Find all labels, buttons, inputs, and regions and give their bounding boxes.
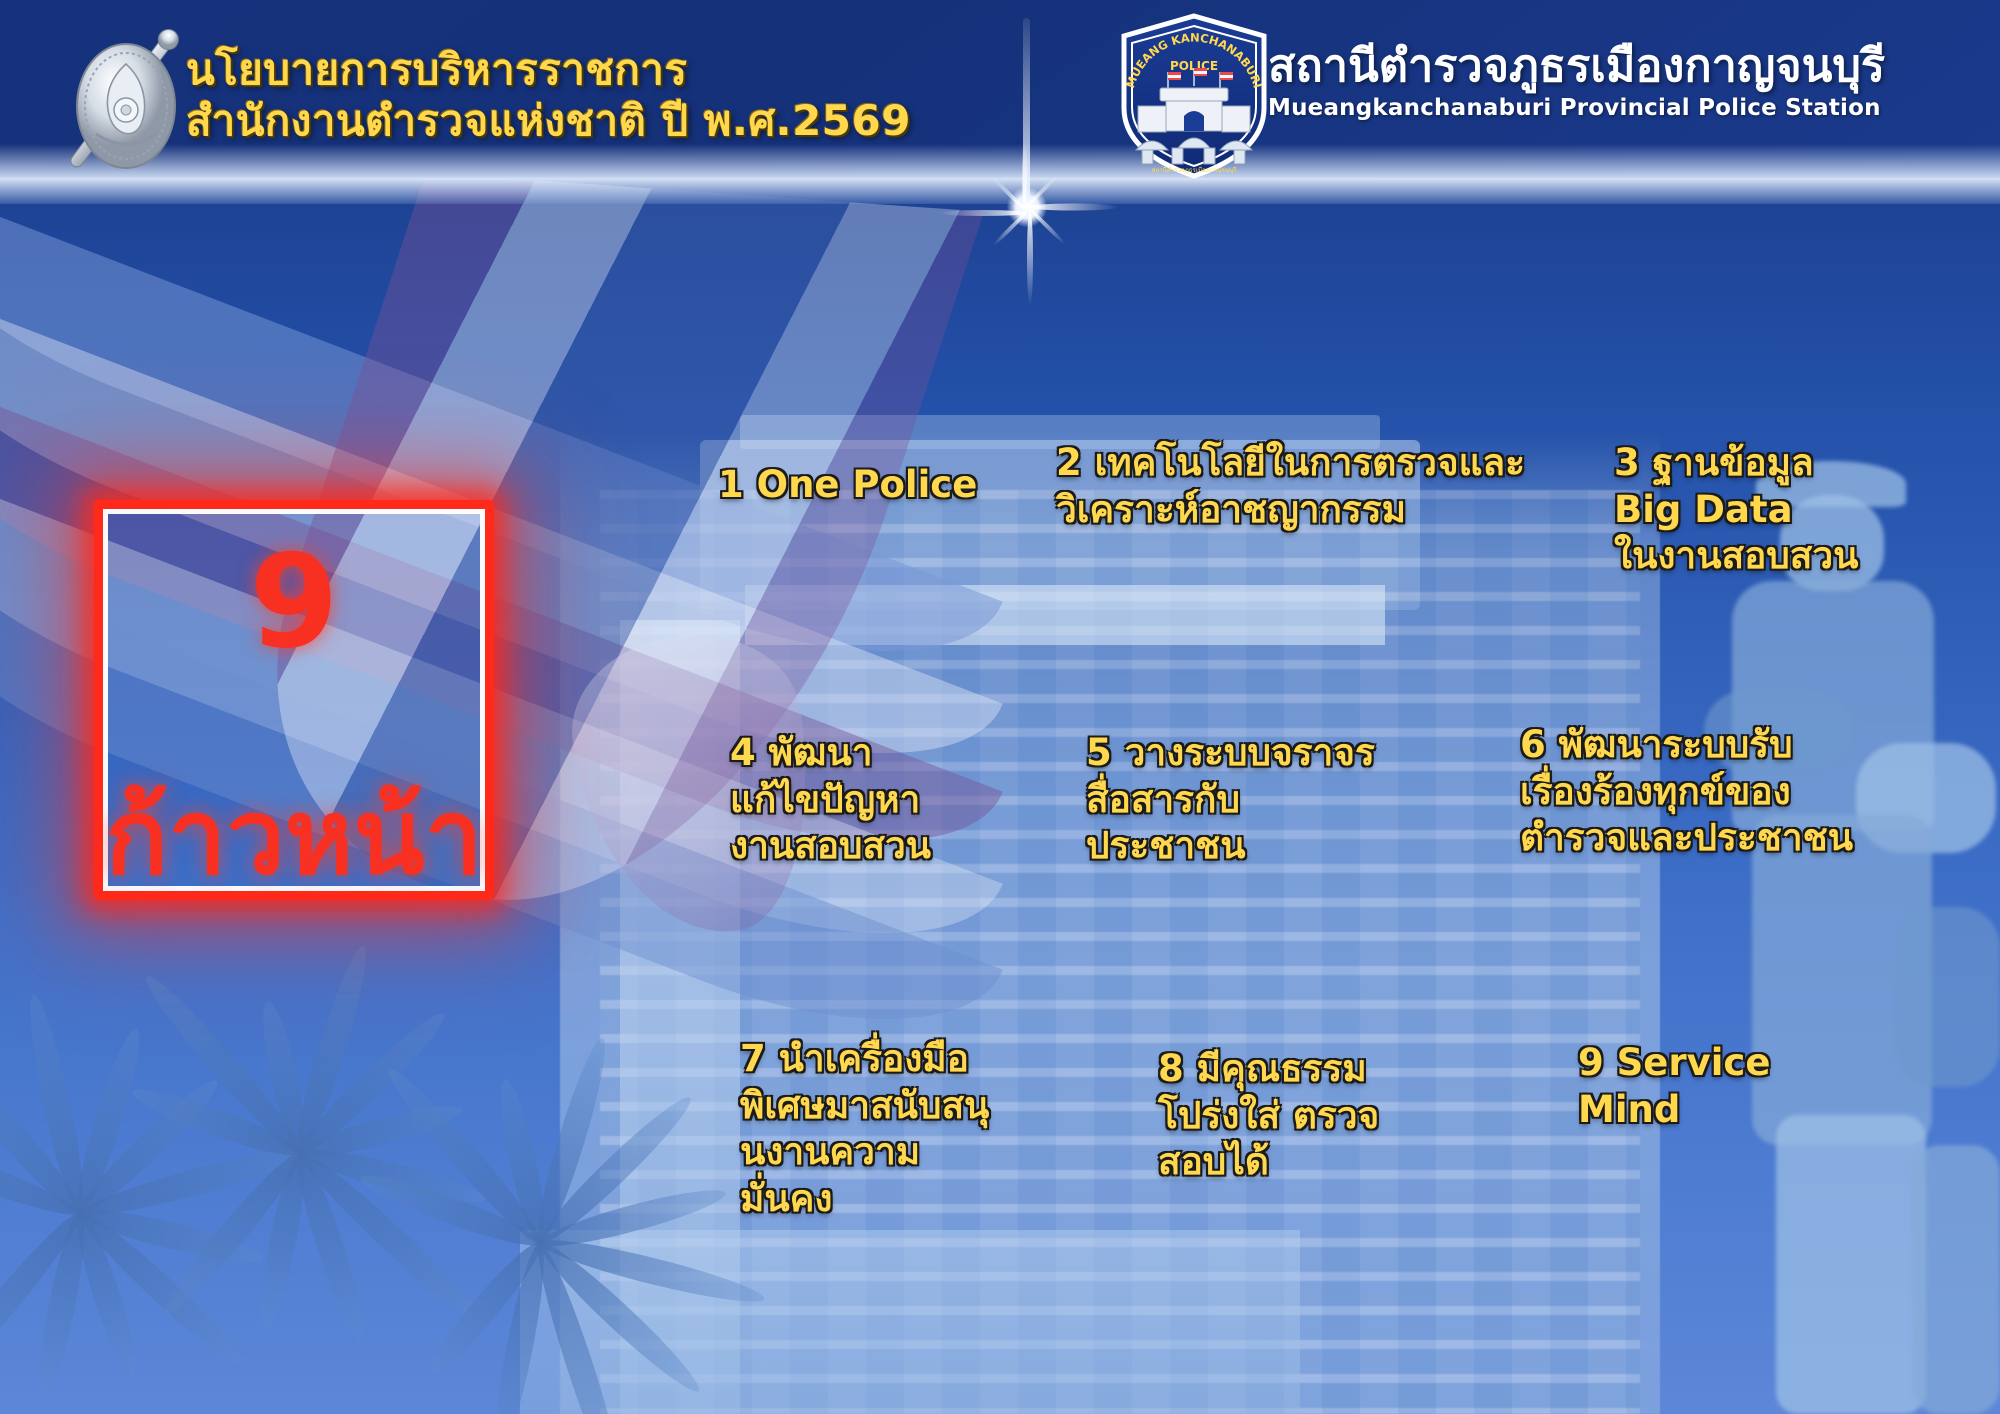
mueang-kanchanaburi-police-shield-badge-icon: MUEANG KANCHANABURI POLICE [1108, 12, 1280, 180]
station-name-english: Mueangkanchanaburi Provincial Police Sta… [1268, 95, 1885, 123]
policy-item-6-text: 6 พัฒนาระบบรับ เรื่องร้องทุกข์ของ ตำรวจแ… [1520, 722, 1853, 862]
policy-item-8: 8 มีคุณธรรม โปร่งใส่ ตรวจ สอบได้ [1158, 1046, 1379, 1186]
policy-item-2: 2 เทคโนโลยีในการตรวจและ วิเคราะห์อาชญากร… [1056, 440, 1525, 533]
page-title-line-1: นโยบายการบริหารราชการ [186, 44, 911, 95]
policy-item-7: 7 นำเครื่องมือ พิเศษมาสนับสนุ นงานความ ม… [740, 1036, 989, 1222]
station-name-block: สถานีตำรวจภูธรเมืองกาญจนบุรี Mueangkanch… [1268, 42, 1885, 123]
policy-item-4: 4 พัฒนา แก้ไขปัญหา งานสอบสวน [730, 730, 931, 870]
policy-item-7-text: 7 นำเครื่องมือ พิเศษมาสนับสนุ นงานความ ม… [740, 1036, 989, 1222]
header-title-block: นโยบายการบริหารราชการ สำนักงานตำรวจแห่งช… [186, 44, 911, 146]
policy-item-3: 3 ฐานข้อมูล Big Data ในงานสอบสวน [1614, 440, 1858, 580]
policy-item-4-text: 4 พัฒนา แก้ไขปัญหา งานสอบสวน [730, 730, 931, 870]
policy-item-1-text: 1 One Police [718, 462, 977, 509]
station-name-thai: สถานีตำรวจภูธรเมืองกาญจนบุรี [1268, 42, 1885, 89]
policy-item-9: 9 Service Mind [1578, 1040, 1770, 1133]
policy-item-5: 5 วางระบบจราจร สื่อสารกับ ประชาชน [1086, 730, 1375, 870]
poster-root: นโยบายการบริหารราชการ สำนักงานตำรวจแห่งช… [0, 0, 2000, 1414]
policy-item-1: 1 One Police [718, 462, 977, 509]
policy-item-2-text: 2 เทคโนโลยีในการตรวจและ วิเคราะห์อาชญากร… [1056, 440, 1525, 533]
policy-item-8-text: 8 มีคุณธรรม โปร่งใส่ ตรวจ สอบได้ [1158, 1046, 1379, 1186]
page-title-line-2: สำนักงานตำรวจแห่งชาติ ปี พ.ศ.2569 [186, 95, 911, 146]
policy-item-3-text: 3 ฐานข้อมูล Big Data ในงานสอบสวน [1614, 440, 1858, 580]
policy-item-6: 6 พัฒนาระบบรับ เรื่องร้องทุกข์ของ ตำรวจแ… [1520, 722, 1853, 862]
svg-text:สถานีตำรวจภูธรเมืองกาญจนบุรี: สถานีตำรวจภูธรเมืองกาญจนบุรี [1152, 166, 1238, 174]
policy-item-5-text: 5 วางระบบจราจร สื่อสารกับ ประชาชน [1086, 730, 1375, 870]
lens-flare-starburst-icon [927, 107, 1127, 307]
royal-thai-police-emblem-icon [48, 18, 198, 178]
policy-item-9-text: 9 Service Mind [1578, 1040, 1770, 1133]
